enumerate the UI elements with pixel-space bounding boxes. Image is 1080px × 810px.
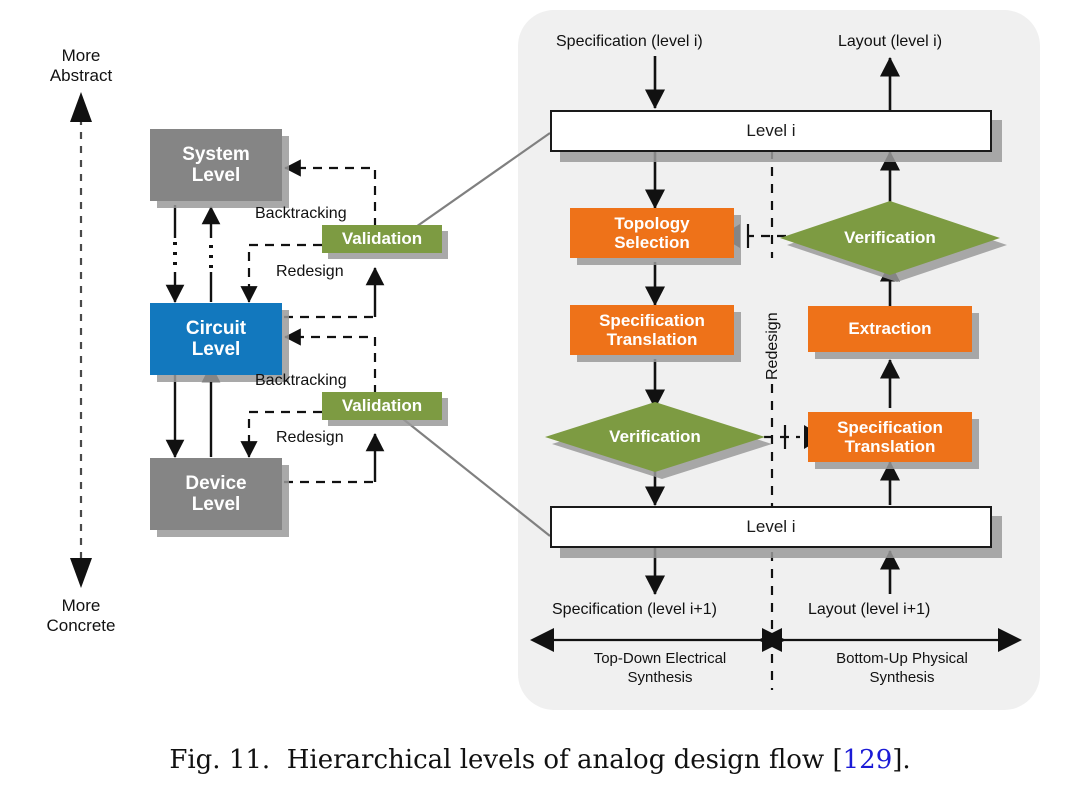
bottom-up-synthesis-line2: Synthesis	[786, 669, 1018, 688]
specification-translation-right-line2: Translation	[837, 437, 943, 456]
bottom-up-synthesis-line1: Bottom-Up Physical	[786, 650, 1018, 669]
axis-label-more-concrete-line2: Concrete	[21, 616, 141, 636]
topology-selection-box[interactable]: Topology Selection	[570, 208, 734, 258]
system-level-box[interactable]: System Level	[150, 129, 282, 201]
axis-label-more-concrete: More Concrete	[21, 596, 141, 636]
circuit-level-line2: Level	[186, 339, 246, 360]
layout-level-i-label: Layout (level i)	[838, 32, 942, 51]
validation-lower-box[interactable]: Validation	[322, 392, 442, 420]
verification-right-label: Verification	[844, 228, 936, 247]
axis-label-more-abstract-line1: More	[21, 46, 141, 66]
level-i-top-label: Level i	[746, 121, 795, 140]
axis-label-more-concrete-line1: More	[21, 596, 141, 616]
specification-translation-left-box[interactable]: Specification Translation	[570, 305, 734, 355]
diagram-canvas: More Abstract More Concrete System Level…	[0, 0, 1080, 740]
figure-caption: Fig. 11. Hierarchical levels of analog d…	[0, 745, 1080, 775]
validation-upper-label: Validation	[342, 229, 422, 248]
axis-label-more-abstract-line2: Abstract	[21, 66, 141, 86]
specification-translation-left-line2: Translation	[599, 330, 705, 349]
device-level-line1: Device	[185, 473, 246, 494]
system-level-line2: Level	[182, 165, 250, 186]
level-i-bottom-label: Level i	[746, 517, 795, 536]
backtracking-upper-label: Backtracking	[255, 204, 347, 223]
verification-left-label-wrap: Verification	[545, 402, 765, 472]
redesign-lower-label: Redesign	[276, 428, 344, 447]
topology-selection-line1: Topology	[614, 214, 690, 233]
level-i-top-box[interactable]: Level i	[550, 110, 992, 152]
extraction-box[interactable]: Extraction	[808, 306, 972, 352]
figure-root: More Abstract More Concrete System Level…	[0, 0, 1080, 810]
figure-caption-suffix: ].	[892, 745, 910, 775]
abstraction-axis-arrow-down	[70, 558, 92, 588]
figure-caption-text: Hierarchical levels of analog design flo…	[287, 745, 843, 775]
bottom-up-synthesis-label: Bottom-Up Physical Synthesis	[786, 650, 1018, 688]
device-level-line2: Level	[185, 494, 246, 515]
validation-lower-label: Validation	[342, 396, 422, 415]
topology-selection-line2: Selection	[614, 233, 690, 252]
verification-left-label: Verification	[609, 427, 701, 446]
figure-caption-prefix: Fig. 11.	[169, 745, 270, 775]
top-down-synthesis-line1: Top-Down Electrical	[552, 650, 768, 669]
figure-caption-reference[interactable]: 129	[843, 745, 893, 775]
system-level-line1: System	[182, 144, 250, 165]
specification-level-i1-label: Specification (level i+1)	[552, 600, 717, 619]
hierarchy-arrows-upper	[175, 205, 211, 302]
specification-level-i-label: Specification (level i)	[556, 32, 703, 51]
axis-label-more-abstract: More Abstract	[21, 46, 141, 86]
top-down-synthesis-label: Top-Down Electrical Synthesis	[552, 650, 768, 688]
specification-translation-right-box[interactable]: Specification Translation	[808, 412, 972, 462]
top-down-synthesis-line2: Synthesis	[552, 669, 768, 688]
backtracking-lower-label: Backtracking	[255, 371, 347, 390]
level-i-bottom-box[interactable]: Level i	[550, 506, 992, 548]
redesign-upper-label: Redesign	[276, 262, 344, 281]
verification-right-label-wrap: Verification	[780, 203, 1000, 273]
device-level-box[interactable]: Device Level	[150, 458, 282, 530]
redesign-vertical-label: Redesign	[764, 312, 782, 380]
abstraction-axis-arrow-up	[70, 92, 92, 122]
validation-upper-box[interactable]: Validation	[322, 225, 442, 253]
extraction-label: Extraction	[848, 319, 931, 338]
specification-translation-left-line1: Specification	[599, 311, 705, 330]
specification-translation-right-line1: Specification	[837, 418, 943, 437]
layout-level-i1-label: Layout (level i+1)	[808, 600, 930, 619]
circuit-level-line1: Circuit	[186, 318, 246, 339]
circuit-level-box[interactable]: Circuit Level	[150, 303, 282, 375]
